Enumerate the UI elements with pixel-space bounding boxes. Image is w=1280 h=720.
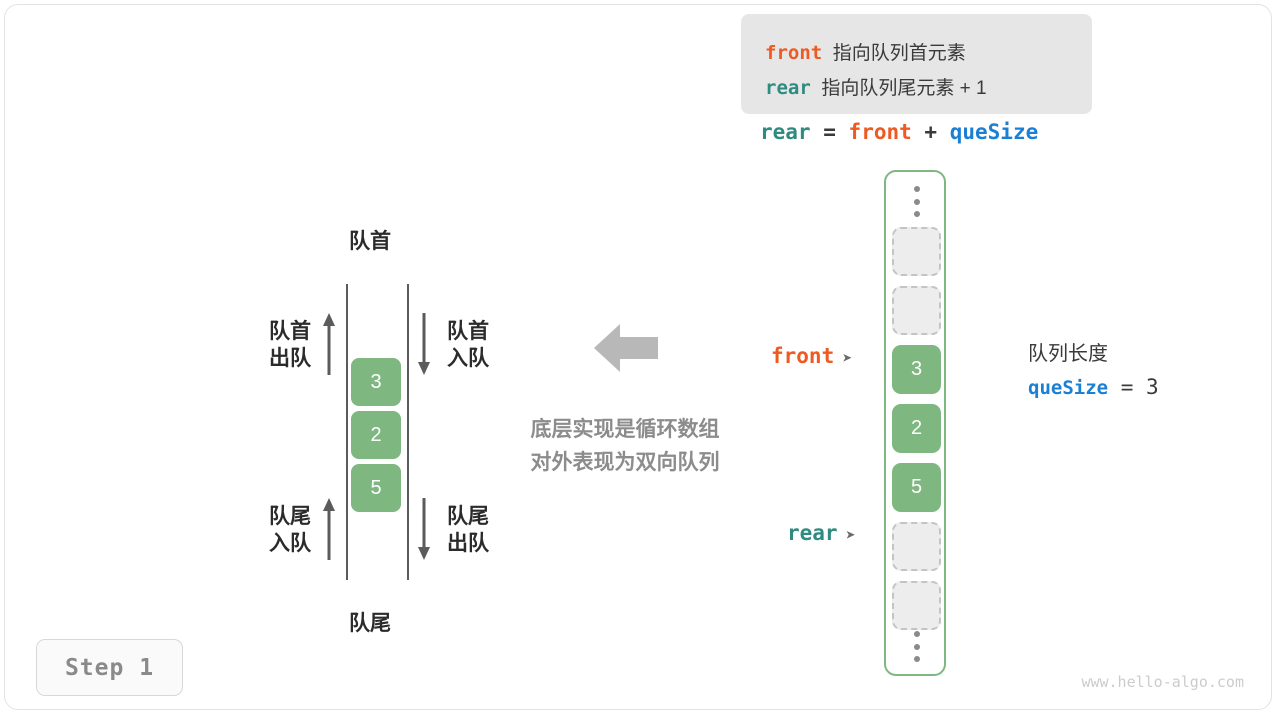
deque-cell: 2 <box>351 411 401 459</box>
formula-plus: + <box>924 120 937 144</box>
front-pointer-arrow-icon: ➤ <box>842 349 852 369</box>
legend-front-symbol: front <box>765 42 822 64</box>
queue-size-value: 3 <box>1146 375 1159 399</box>
ellipsis-top-icon <box>913 186 920 217</box>
diagram-canvas: front 指向队列首元素 rear 指向队列尾元素 + 1 rear = fr… <box>0 0 1280 720</box>
deque-head-label: 队首 <box>349 228 391 255</box>
rear-formula: rear = front + queSize <box>760 120 1038 145</box>
queue-size-caption: 队列长度 <box>1028 337 1159 366</box>
formula-lhs: rear <box>760 120 811 144</box>
rear-pointer-arrow-icon: ➤ <box>846 526 856 546</box>
array-cell-empty <box>892 522 941 571</box>
formula-equals: = <box>823 120 836 144</box>
array-cell-filled: 3 <box>892 345 941 394</box>
array-cell-filled: 5 <box>892 463 941 512</box>
legend-line-rear: rear 指向队列尾元素 + 1 <box>765 73 987 100</box>
op-label-head-enqueue: 队首入队 <box>447 318 489 372</box>
rear-pointer-text: rear <box>787 521 838 545</box>
queue-size-annotation: 队列长度 queSize = 3 <box>1028 337 1159 400</box>
deque-cell: 3 <box>351 358 401 406</box>
op-label-tail-dequeue: 队尾出队 <box>447 503 489 557</box>
array-cell-empty <box>892 227 941 276</box>
legend-rear-symbol: rear <box>765 77 811 99</box>
op-label-tail-enqueue: 队尾入队 <box>249 503 311 557</box>
implementation-arrow-icon <box>594 320 658 376</box>
front-pointer-label: front➤ <box>771 344 852 368</box>
arrow-up-head-dequeue-icon <box>320 313 338 375</box>
step-badge: Step 1 <box>36 639 183 696</box>
legend-front-text: 指向队列首元素 <box>833 43 966 64</box>
arrow-down-tail-dequeue-icon <box>415 498 433 560</box>
array-cell-empty <box>892 581 941 630</box>
deque-tail-label: 队尾 <box>349 610 391 637</box>
arrow-down-head-enqueue-icon <box>415 313 433 375</box>
deque-rail-left <box>346 284 348 580</box>
front-pointer-text: front <box>771 344 834 368</box>
legend-line-front: front 指向队列首元素 <box>765 38 966 65</box>
center-note-line1: 底层实现是循环数组 <box>531 418 720 441</box>
arrow-up-tail-enqueue-icon <box>320 498 338 560</box>
circular-array-container: 3 2 5 <box>884 170 946 676</box>
queue-size-expression: queSize = 3 <box>1028 375 1159 400</box>
watermark: www.hello-algo.com <box>1081 673 1244 691</box>
formula-quesize: queSize <box>950 120 1039 144</box>
queue-size-var: queSize <box>1028 377 1108 399</box>
center-note-line2: 对外表现为双向队列 <box>531 451 720 474</box>
array-cell-empty <box>892 286 941 335</box>
op-label-head-dequeue: 队首出队 <box>249 318 311 372</box>
deque-rail-right <box>407 284 409 580</box>
center-note: 底层实现是循环数组 对外表现为双向队列 <box>504 413 746 479</box>
ellipsis-bottom-icon <box>913 631 920 662</box>
deque-cell: 5 <box>351 464 401 512</box>
formula-front: front <box>849 120 912 144</box>
array-cell-filled: 2 <box>892 404 941 453</box>
queue-size-equals: = <box>1121 375 1134 399</box>
rear-pointer-label: rear➤ <box>787 521 856 545</box>
legend-rear-text: 指向队列尾元素 + 1 <box>821 78 986 99</box>
pointer-legend-box: front 指向队列首元素 rear 指向队列尾元素 + 1 <box>741 14 1092 114</box>
